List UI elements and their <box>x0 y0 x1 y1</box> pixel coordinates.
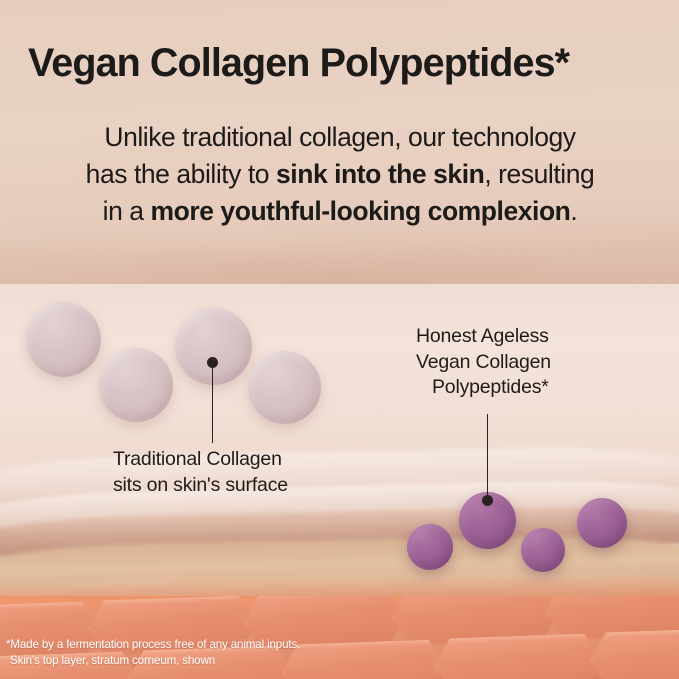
subtitle-line-2-bold: sink into the skin <box>276 159 484 189</box>
vegan-collagen-infographic: Vegan Collagen Polypeptides* Unlike trad… <box>0 0 679 679</box>
footnote: *Made by a fermentation process free of … <box>6 637 300 670</box>
traditional-sphere-3 <box>175 308 252 385</box>
traditional-collagen-annotation: Traditional Collagen sits on skin's surf… <box>113 447 288 498</box>
traditional-leader-dot <box>207 357 218 368</box>
vegan-leader-line <box>487 414 488 498</box>
subtitle-line-2-prefix: has the ability to <box>86 159 276 189</box>
traditional-leader-line <box>212 363 213 443</box>
traditional-sphere-1 <box>26 302 101 377</box>
traditional-annotation-line-2: sits on skin's surface <box>113 474 288 496</box>
subtitle-line-3-bold: more youthful-looking complexion <box>151 196 571 226</box>
traditional-sphere-2 <box>99 348 173 422</box>
skin-cell <box>433 633 603 679</box>
vegan-sphere-4 <box>577 498 627 548</box>
vegan-sphere-1 <box>407 524 453 570</box>
skin-cell <box>281 639 447 679</box>
footnote-line-2: Skin's top layer, stratum corneum, shown <box>6 653 300 669</box>
page-title: Vegan Collagen Polypeptides* <box>28 42 668 85</box>
subtitle-line-3-suffix: . <box>570 196 577 226</box>
vegan-annotation-line-2: Vegan Collagen <box>416 351 551 373</box>
subtitle-line-3-prefix: in a <box>103 196 151 226</box>
vegan-collagen-annotation: Honest Ageless Vegan Collagen Polypeptid… <box>416 324 551 401</box>
vegan-sphere-3 <box>521 528 565 572</box>
footnote-line-1: *Made by a fermentation process free of … <box>6 637 300 653</box>
vegan-annotation-line-1: Honest Ageless <box>416 325 549 347</box>
traditional-annotation-line-1: Traditional Collagen <box>113 448 282 470</box>
vegan-annotation-line-3: Polypeptides* <box>416 375 551 401</box>
traditional-sphere-4 <box>248 351 321 424</box>
subtitle: Unlike traditional collagen, our technol… <box>34 119 646 230</box>
subtitle-line-2-suffix: , resulting <box>484 159 594 189</box>
subtitle-line-1: Unlike traditional collagen, our technol… <box>104 122 575 152</box>
vegan-leader-dot <box>482 495 493 506</box>
